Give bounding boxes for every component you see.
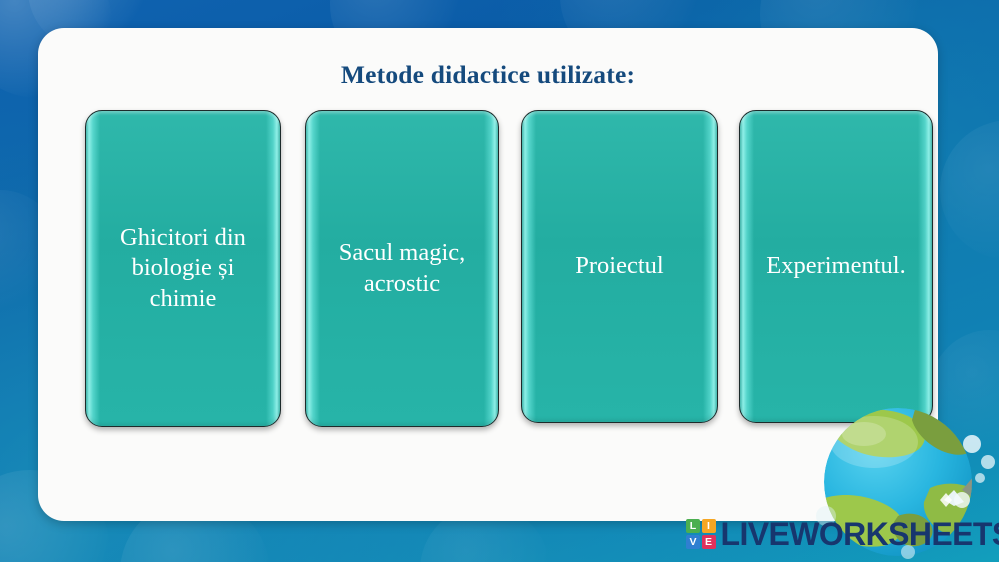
logo-letter-squares: L I V E [686, 519, 716, 549]
logo-square-v: V [686, 535, 700, 549]
logo-square-i: I [702, 519, 716, 533]
page-title: Metode didactice utilizate: [38, 60, 938, 90]
slide-canvas: Metode didactice utilizate: Ghicitori di… [0, 0, 999, 562]
method-card-proiectul[interactable]: Proiectul [521, 110, 718, 423]
liveworksheets-logo[interactable]: L I V E LIVEWORKSHEETS [686, 514, 999, 554]
method-card-sacul-magic[interactable]: Sacul magic, acrostic [305, 110, 499, 427]
method-card-experimentul[interactable]: Experimentul. [739, 110, 933, 423]
logo-wordmark: LIVEWORKSHEETS [721, 518, 999, 550]
logo-square-e: E [702, 535, 716, 549]
bokeh-circle [940, 120, 999, 260]
logo-square-l: L [686, 519, 700, 533]
method-card-ghicitori[interactable]: Ghicitori din biologie și chimie [85, 110, 281, 427]
bokeh-circle [930, 330, 999, 450]
